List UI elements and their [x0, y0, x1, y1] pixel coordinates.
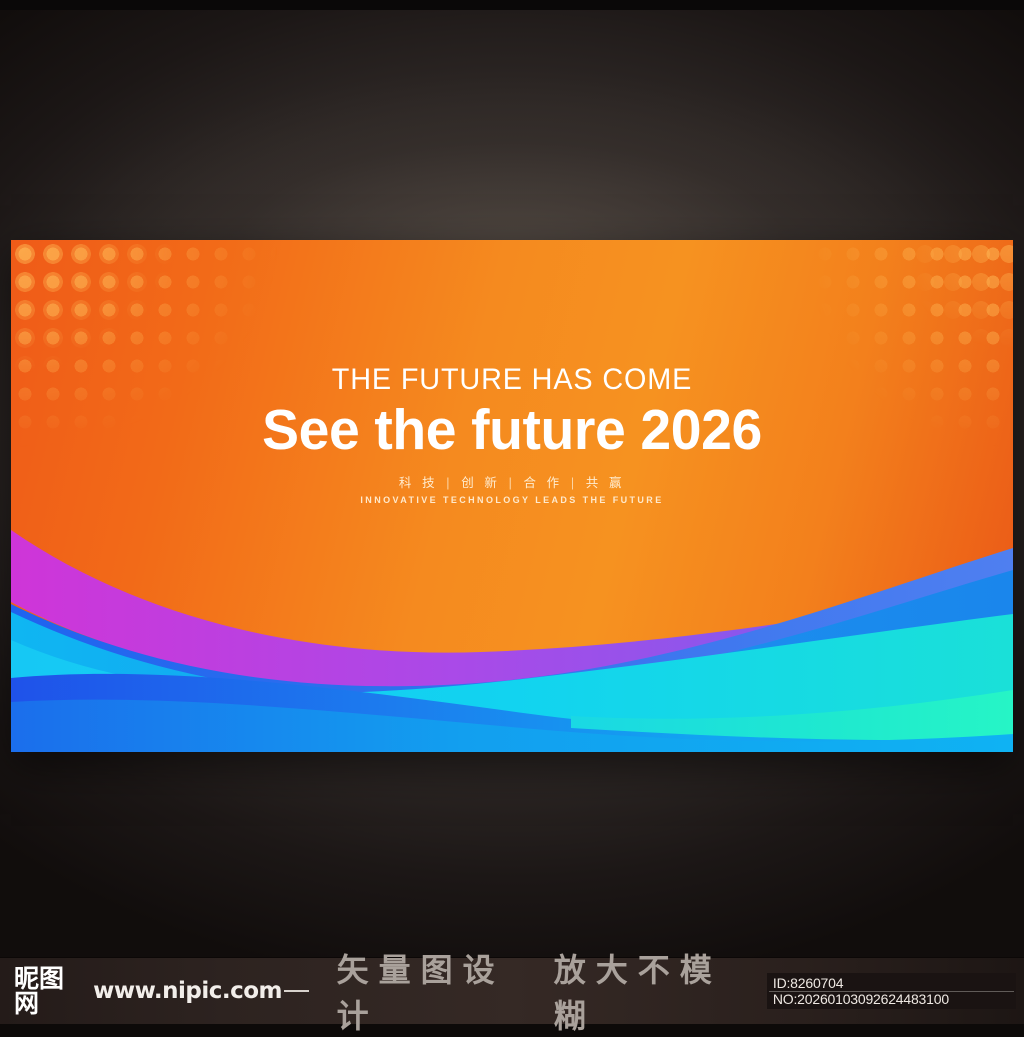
halftone-dots-top-right-large-icon	[883, 240, 1013, 360]
wave-graphic-group	[11, 492, 1013, 752]
subtitle-separator-1: |	[445, 476, 454, 490]
backdrop-top-edge	[0, 0, 1024, 10]
watermark-dash-divider	[284, 990, 309, 992]
subtitle-part-4: 共 赢	[586, 476, 625, 490]
subtitle-part-1: 科 技	[399, 476, 438, 490]
poster-artwork[interactable]: THE FUTURE HAS COME See the future 2026 …	[11, 240, 1013, 752]
poster-title: See the future 2026	[26, 400, 998, 460]
backdrop-top-glow	[0, 0, 1024, 250]
subtitle-part-2: 创 新	[461, 476, 500, 490]
subtitle-part-3: 合 作	[524, 476, 563, 490]
poster-subtitle-chinese: 科 技 | 创 新 | 合 作 | 共 赢	[11, 472, 1013, 491]
nipic-url[interactable]: www.nipic.com	[93, 978, 282, 1004]
subtitle-separator-3: |	[570, 476, 579, 490]
poster-subtitle-english: INNOVATIVE TECHNOLOGY LEADS THE FUTURE	[11, 495, 1013, 505]
subtitle-separator-2: |	[508, 476, 517, 490]
watermark-slogan-vector-design: 矢量图设计	[337, 945, 536, 1037]
poster-headline-block: THE FUTURE HAS COME See the future 2026 …	[11, 365, 1013, 505]
poster-eyebrow-text: THE FUTURE HAS COME	[31, 365, 993, 395]
watermark-slogan-no-blur: 放大不模糊	[554, 945, 753, 1037]
watermark-id-badge: ID:8260704 NO:20260103092624483100	[767, 973, 1016, 1009]
watermark-bar: 昵图网 www.nipic.com 矢量图设计 放大不模糊 ID:8260704…	[0, 957, 1024, 1024]
nipic-logo: 昵图网	[14, 966, 85, 1016]
